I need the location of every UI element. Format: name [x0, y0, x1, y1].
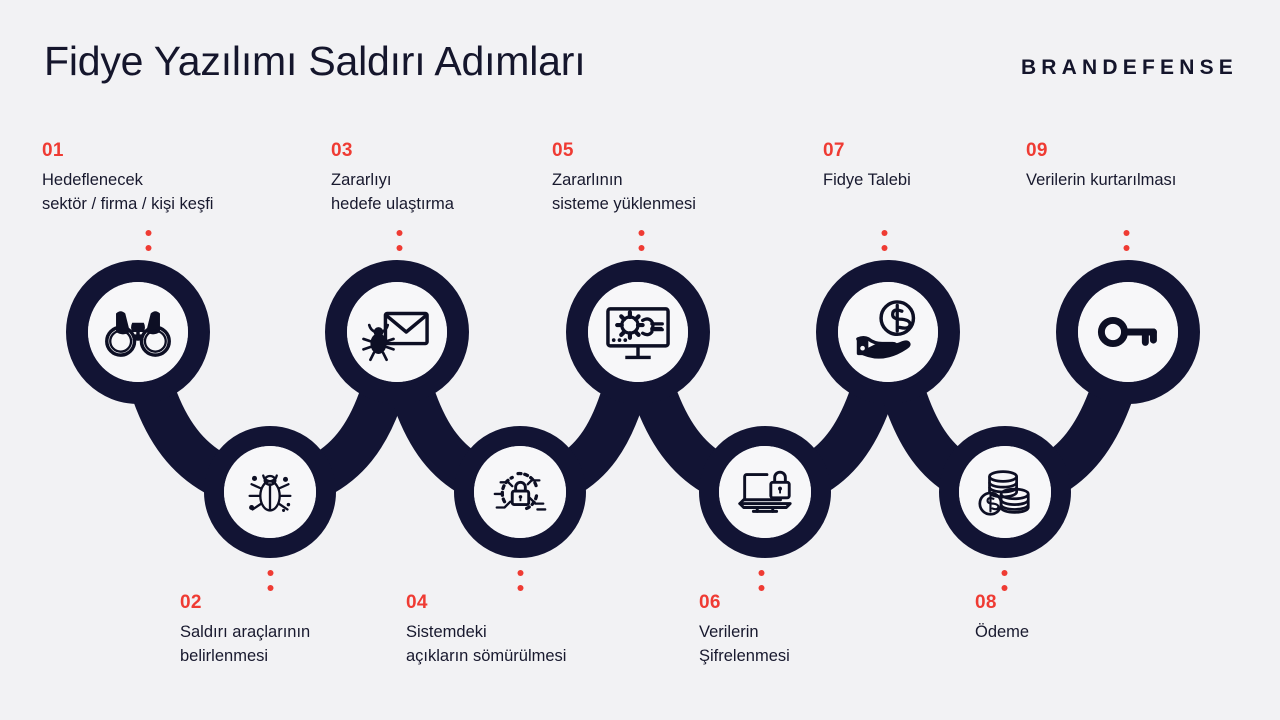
step-label-03: 03 Zararlıyı hedefe ulaştırma	[331, 141, 561, 217]
step-label-01: 01 Hedeflenecek sektör / firma / kişi ke…	[42, 141, 307, 217]
step-text-01: Hedeflenecek sektör / firma / kişi keşfi	[42, 169, 307, 217]
step-label-04: 04 Sistemdeki açıkların sömürülmesi	[406, 593, 646, 669]
step-text-06: Verilerin Şifrelenmesi	[699, 621, 929, 669]
step-text-04: Sistemdeki açıkların sömürülmesi	[406, 621, 646, 669]
dot-connector-03	[396, 230, 403, 251]
dot-connector-05	[638, 230, 645, 251]
step-label-07: 07 Fidye Talebi	[823, 141, 1053, 193]
infographic-canvas: Fidye Yazılımı Saldırı Adımları BRANDEFE…	[0, 0, 1280, 720]
step-text-07: Fidye Talebi	[823, 169, 1053, 193]
step-text-08: Ödeme	[975, 621, 1205, 645]
dot-connector-04	[517, 570, 524, 591]
step-number-03: 03	[331, 141, 561, 160]
step-label-08: 08 Ödeme	[975, 593, 1205, 645]
step-label-09: 09 Verilerin kurtarılması	[1026, 141, 1266, 193]
step-number-01: 01	[42, 141, 307, 160]
step-text-03: Zararlıyı hedefe ulaştırma	[331, 169, 561, 217]
step-number-07: 07	[823, 141, 1053, 160]
dot-connector-08	[1001, 570, 1008, 591]
step-number-08: 08	[975, 593, 1205, 612]
step-number-05: 05	[552, 141, 782, 160]
step-text-05: Zararlının sisteme yüklenmesi	[552, 169, 782, 217]
step-text-09: Verilerin kurtarılması	[1026, 169, 1266, 193]
step-text-02: Saldırı araçlarının belirlenmesi	[180, 621, 410, 669]
dot-connector-01	[145, 230, 152, 251]
step-label-05: 05 Zararlının sisteme yüklenmesi	[552, 141, 782, 217]
dot-connector-07	[881, 230, 888, 251]
dot-connector-02	[267, 570, 274, 591]
step-number-09: 09	[1026, 141, 1266, 160]
step-number-02: 02	[180, 593, 410, 612]
dot-connector-06	[758, 570, 765, 591]
dot-connector-09	[1123, 230, 1130, 251]
step-label-06: 06 Verilerin Şifrelenmesi	[699, 593, 929, 669]
step-number-04: 04	[406, 593, 646, 612]
step-number-06: 06	[699, 593, 929, 612]
step-label-02: 02 Saldırı araçlarının belirlenmesi	[180, 593, 410, 669]
